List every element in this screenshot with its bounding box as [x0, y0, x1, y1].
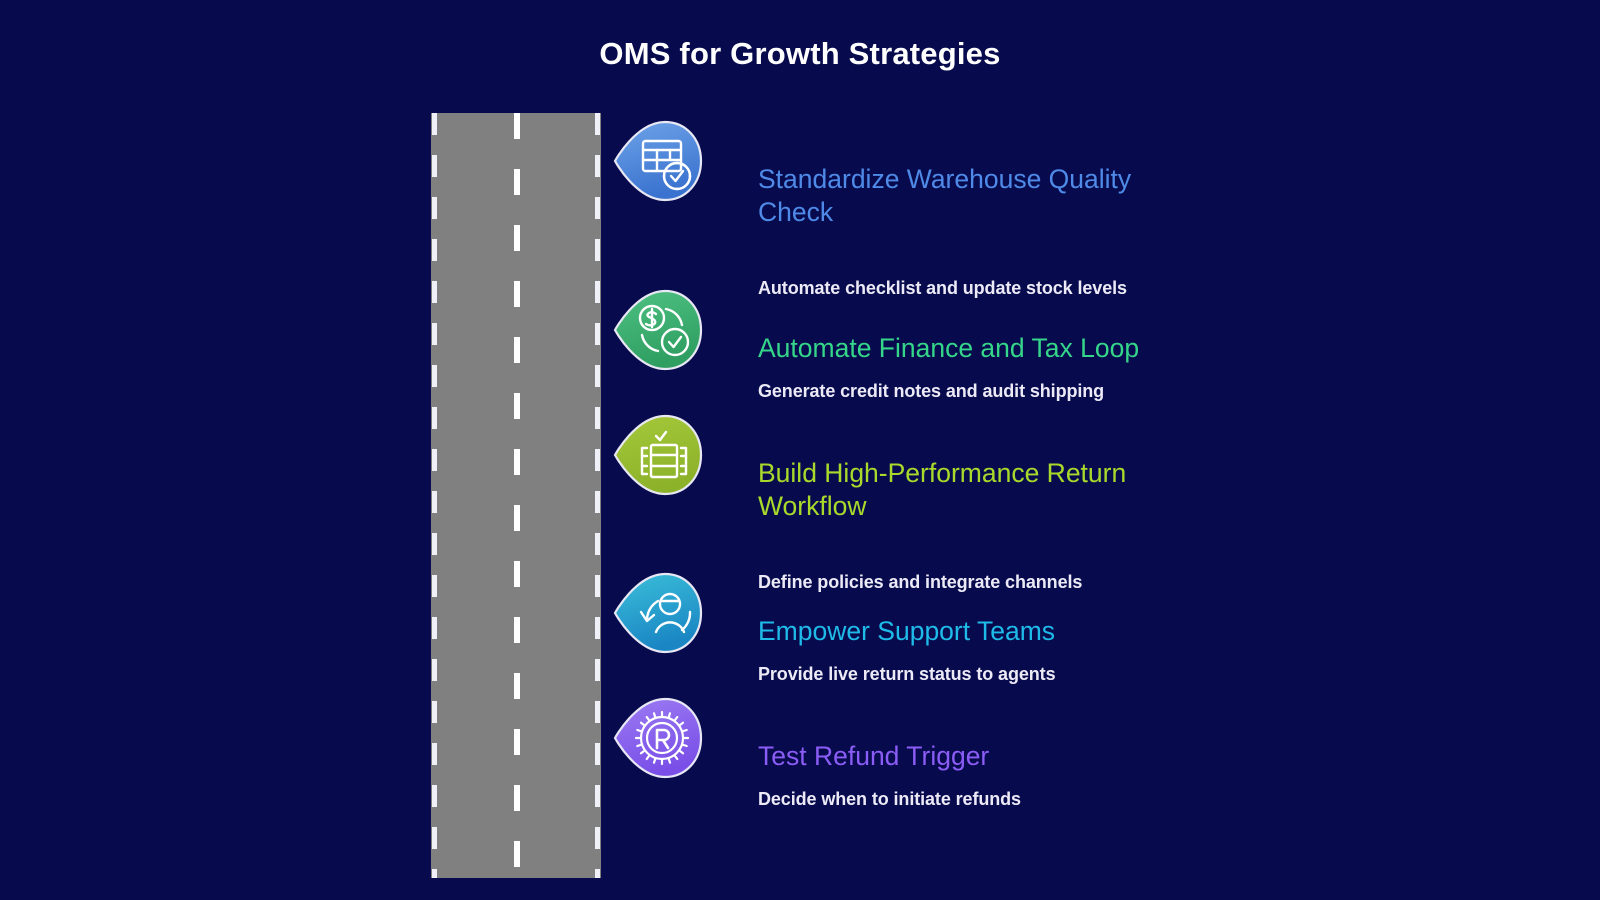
step-text-block: Test Refund TriggerDecide when to initia… [758, 740, 1558, 811]
step-text-block: Standardize Warehouse Quality CheckAutom… [758, 163, 1558, 300]
road-graphic [431, 113, 601, 878]
step-subtitle: Automate checklist and update stock leve… [758, 277, 1558, 300]
gear-r-icon[interactable] [612, 695, 704, 781]
road-center-dashes [514, 113, 520, 878]
step-text-block: Build High-Performance Return WorkflowDe… [758, 457, 1558, 594]
server-rack-check-icon[interactable] [612, 412, 704, 498]
agent-refresh-icon[interactable] [612, 570, 704, 656]
step-text-block: Empower Support TeamsProvide live return… [758, 615, 1558, 686]
page-title: OMS for Growth Strategies [0, 36, 1600, 72]
dollar-refresh-check-icon[interactable] [612, 287, 704, 373]
step-title: Test Refund Trigger [758, 740, 1158, 773]
road-edge-left-dashes [432, 113, 437, 878]
step-text-block: Automate Finance and Tax LoopGenerate cr… [758, 332, 1558, 403]
step-title: Build High-Performance Return Workflow [758, 457, 1158, 523]
slide-canvas: OMS for Growth Strategies Standardize Wa… [0, 0, 1600, 900]
icon-shape [612, 412, 704, 498]
step-subtitle: Decide when to initiate refunds [758, 788, 1558, 811]
icon-shape [612, 570, 704, 656]
step-title: Automate Finance and Tax Loop [758, 332, 1158, 365]
road-edge-right-dashes [595, 113, 600, 878]
icon-shape [612, 287, 704, 373]
step-subtitle: Generate credit notes and audit shipping [758, 380, 1558, 403]
step-title: Standardize Warehouse Quality Check [758, 163, 1158, 229]
step-title: Empower Support Teams [758, 615, 1158, 648]
table-check-icon[interactable] [612, 118, 704, 204]
icon-shape [612, 695, 704, 781]
step-subtitle: Define policies and integrate channels [758, 571, 1558, 594]
step-subtitle: Provide live return status to agents [758, 663, 1558, 686]
icon-shape [612, 118, 704, 204]
